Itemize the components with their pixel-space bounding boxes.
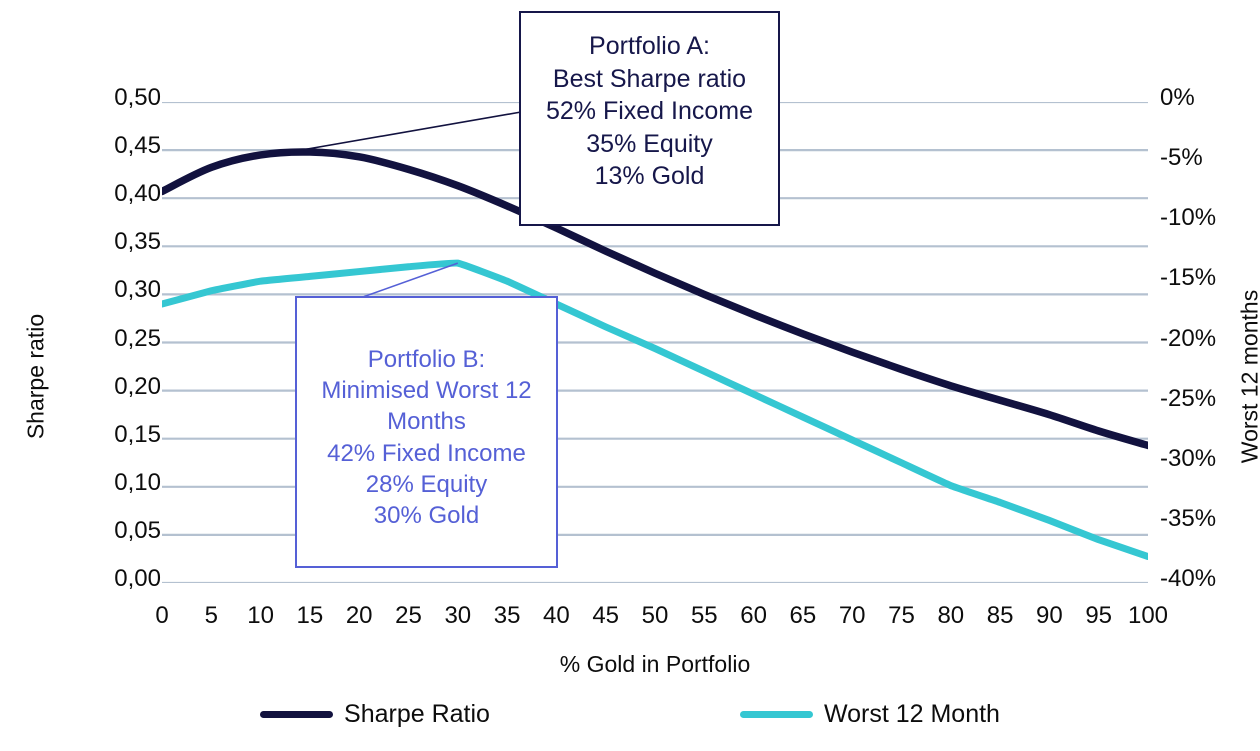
- y-axis-right-tick: -30%: [1160, 447, 1216, 471]
- annotation-a-line-5: 13% Gold: [521, 160, 778, 193]
- annotation-a-line-3: 52% Fixed Income: [521, 95, 778, 128]
- annotation-a-line-4: 35% Equity: [521, 128, 778, 161]
- chart-legend: Sharpe Ratio Worst 12 Month: [0, 700, 1260, 729]
- annotation-b-line-1: Portfolio B:: [297, 344, 556, 375]
- y-axis-right-title: Worst 12 months: [1237, 257, 1260, 497]
- annotation-b-line-2: Minimised Worst 12 Months: [297, 375, 556, 437]
- y-axis-left-tick: 0,25: [114, 327, 161, 351]
- legend-label-worst-12-month: Worst 12 Month: [824, 700, 1000, 729]
- y-axis-right-tick: -40%: [1160, 567, 1216, 591]
- annotation-portfolio-a: Portfolio A: Best Sharpe ratio 52% Fixed…: [519, 11, 780, 226]
- y-axis-left-tick: 0,00: [114, 567, 161, 591]
- y-axis-left-tick: 0,30: [114, 278, 161, 302]
- y-axis-right-tick: -20%: [1160, 327, 1216, 351]
- y-axis-left-tick: 0,40: [114, 182, 161, 206]
- annotation-portfolio-b: Portfolio B: Minimised Worst 12 Months 4…: [295, 296, 558, 568]
- legend-label-sharpe-ratio: Sharpe Ratio: [344, 700, 490, 729]
- y-axis-right-tick: -25%: [1160, 387, 1216, 411]
- y-axis-right-tick: -10%: [1160, 206, 1216, 230]
- annotation-b-line-3: 42% Fixed Income: [297, 438, 556, 469]
- annotation-a-line-1: Portfolio A:: [521, 30, 778, 63]
- x-axis-title: % Gold in Portfolio: [162, 651, 1148, 678]
- y-axis-left-tick: 0,45: [114, 134, 161, 158]
- legend-line-icon-worst-12-month: [740, 711, 813, 718]
- y-axis-left-tick: 0,50: [114, 86, 161, 110]
- y-axis-right-tick: -5%: [1160, 146, 1203, 170]
- y-axis-left-tick: 0,20: [114, 375, 161, 399]
- y-axis-left-tick: 0,05: [114, 519, 161, 543]
- y-axis-left-tick: 0,10: [114, 471, 161, 495]
- annotation-a-line-2: Best Sharpe ratio: [521, 63, 778, 96]
- legend-item-sharpe-ratio: Sharpe Ratio: [260, 700, 490, 729]
- y-axis-left-tick: 0,35: [114, 230, 161, 254]
- legend-line-icon-sharpe-ratio: [260, 711, 333, 718]
- y-axis-left-tick: 0,15: [114, 423, 161, 447]
- y-axis-right-tick: -35%: [1160, 507, 1216, 531]
- y-axis-right-tick: 0%: [1160, 86, 1195, 110]
- annotation-b-line-5: 30% Gold: [297, 500, 556, 531]
- annotation-b-line-4: 28% Equity: [297, 469, 556, 500]
- y-axis-left-title: Sharpe ratio: [23, 257, 50, 497]
- legend-item-worst-12-month: Worst 12 Month: [740, 700, 1000, 729]
- leader-line: [290, 112, 521, 152]
- x-axis-tick: 100: [1118, 604, 1178, 628]
- y-axis-right-tick: -15%: [1160, 266, 1216, 290]
- gold-allocation-chart: Sharpe ratio Worst 12 months % Gold in P…: [0, 0, 1260, 751]
